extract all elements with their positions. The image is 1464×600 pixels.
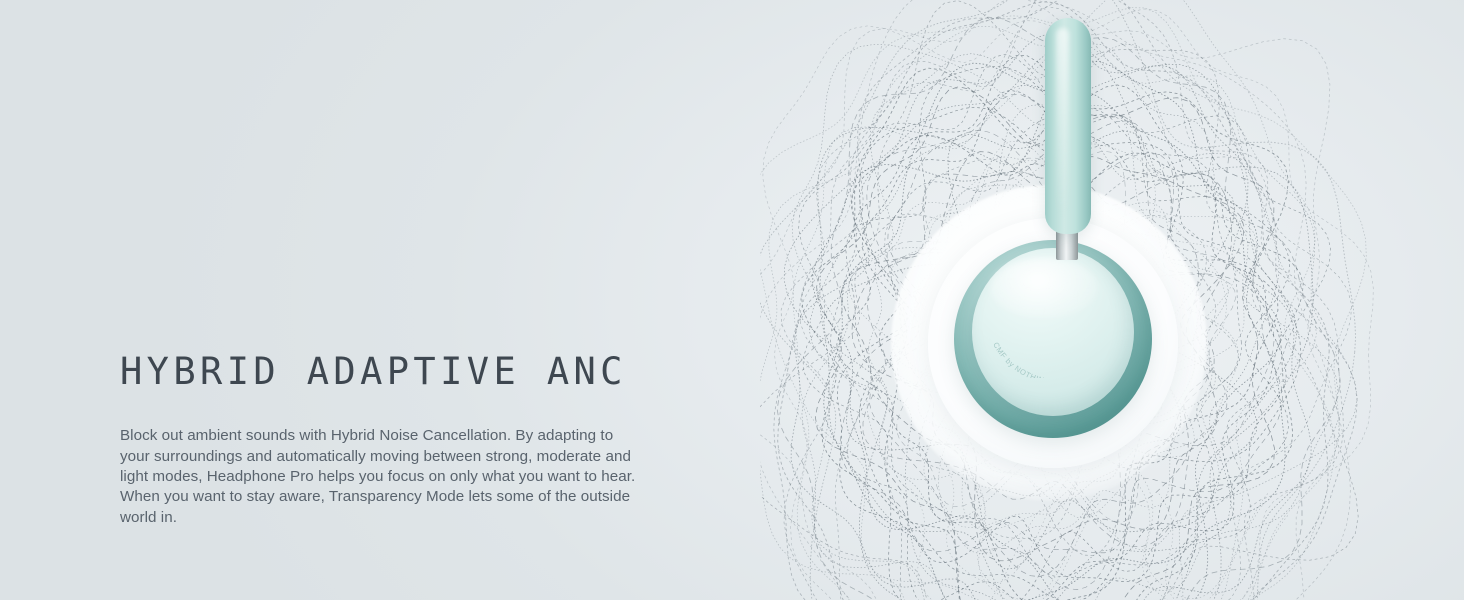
earcup-highlight bbox=[990, 258, 1098, 318]
engraving-text: CMF by NOTHING bbox=[991, 341, 1051, 378]
svg-text:CMF by NOTHING: CMF by NOTHING bbox=[991, 341, 1051, 378]
product-visual: CMF by NOTHING bbox=[760, 0, 1464, 600]
headband-highlight bbox=[1056, 28, 1069, 216]
copy-block: HYBRID ADAPTIVE ANC Block out ambient so… bbox=[120, 352, 680, 528]
anc-feature-banner: HYBRID ADAPTIVE ANC Block out ambient so… bbox=[0, 0, 1464, 600]
brand-engraving: CMF by NOTHING bbox=[988, 336, 1108, 378]
body-paragraph: Block out ambient sounds with Hybrid Noi… bbox=[120, 426, 646, 528]
page-title: HYBRID ADAPTIVE ANC bbox=[120, 352, 680, 391]
